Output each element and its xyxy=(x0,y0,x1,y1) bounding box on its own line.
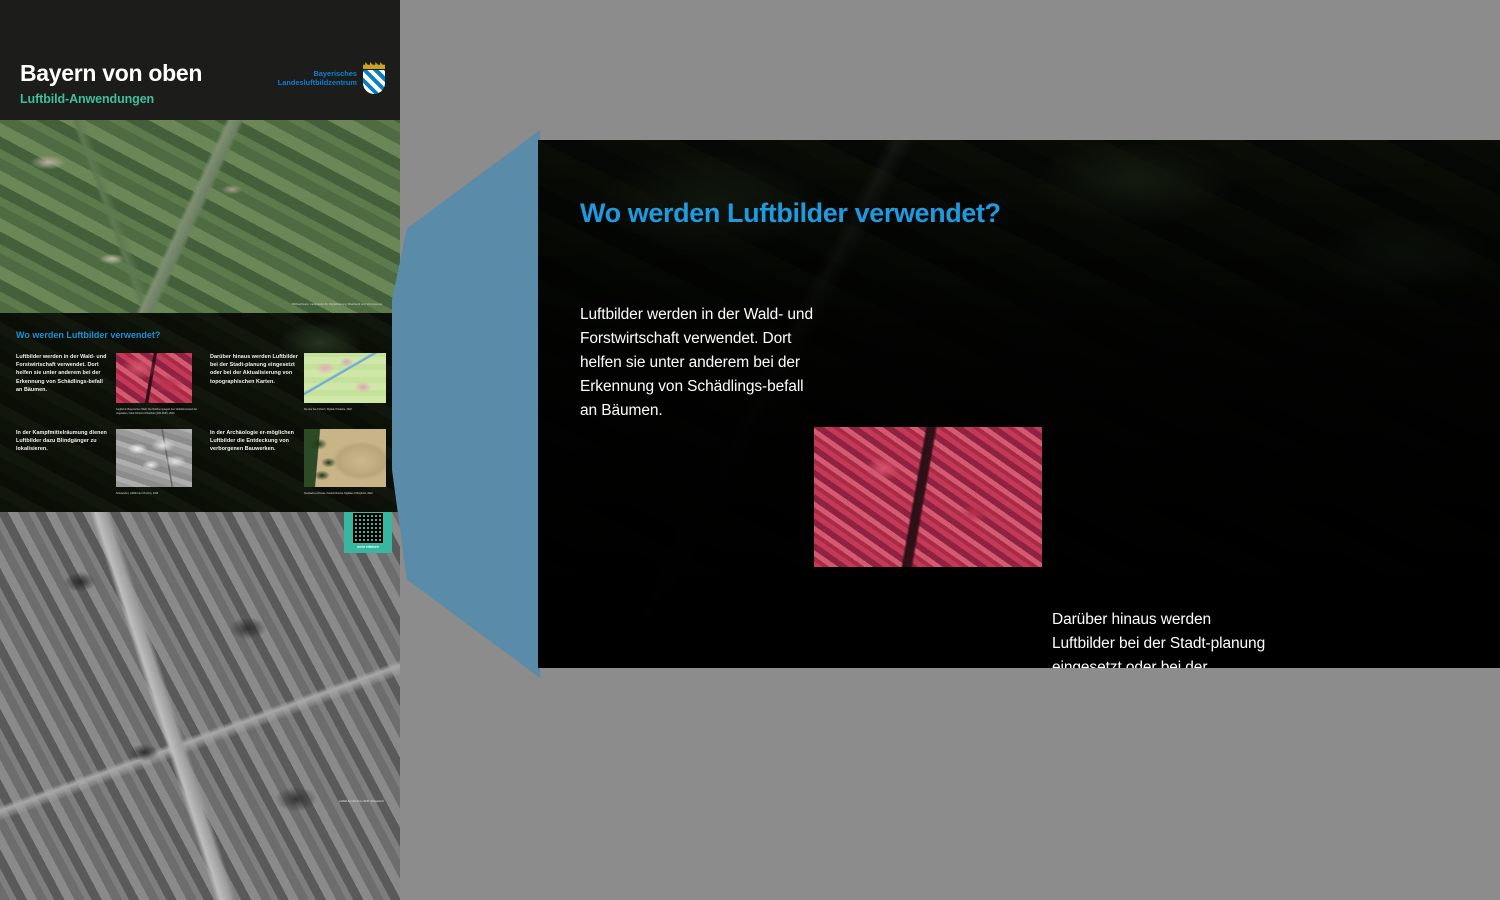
poster-block-text: Darüber hinaus werden Luftbilder bei der… xyxy=(210,353,298,386)
poster-block-stadtplanung: Darüber hinaus werden Luftbilder bei der… xyxy=(210,353,298,386)
poster-caption-text: Schweinfurt, Luftbild der US Army, 1945 xyxy=(116,492,200,496)
poster-header: Bayern von oben Luftbild-Anwendungen Bay… xyxy=(0,0,400,120)
poster-caption-text: Neustadt a.d.Donau, Kastell Abusina, Dig… xyxy=(304,492,392,496)
detail-panel-title: Wo werden Luftbilder verwendet? xyxy=(580,198,1500,229)
poster-block-forstwirtschaft: Luftbilder werden in der Wald- und Forst… xyxy=(16,353,108,394)
poster-image-ortskarte xyxy=(304,353,386,403)
poster-panel-title: Wo werden Luftbilder verwendet? xyxy=(16,330,160,340)
poster-content-panel: Wo werden Luftbilder verwendet? Luftbild… xyxy=(0,313,400,512)
qr-code-icon xyxy=(353,513,383,543)
poster-caption-kampfmittelraeumung: Schweinfurt, Luftbild der US Army, 1945 xyxy=(116,490,200,496)
page-subtitle: Luftbild-Anwendungen xyxy=(20,92,154,106)
poster-block-text: In der Kampfmittelräumung dienen Luftbil… xyxy=(16,429,110,454)
poster-image-abusina xyxy=(304,429,386,487)
poster-caption-archaeologie: Neustadt a.d.Donau, Kastell Abusina, Dig… xyxy=(304,490,392,496)
qr-code-label: mehr erfahren xyxy=(348,545,388,549)
poster: Bildnachweis: Landesamt für Digitalisier… xyxy=(0,0,400,900)
page-title: Bayern von oben xyxy=(20,60,202,87)
poster-block-kampfmittelraeumung: In der Kampfmittelräumung dienen Luftbil… xyxy=(16,429,110,454)
poster-block-archaeologie: In der Archäologie er-möglichen Luftbild… xyxy=(210,429,298,454)
shield-icon xyxy=(363,70,385,94)
poster-block-text: Luftbilder werden in der Wald- und Forst… xyxy=(16,353,108,394)
zoom-callout-connector xyxy=(392,130,540,678)
bavarian-coat-of-arms-icon xyxy=(362,62,386,94)
photo-credit-bottom: Luftbild der US Army 1945, Schweinfurt xyxy=(339,800,384,804)
poster-caption-forstwirtschaft: Guglöd im Bayerischen Wald. Die Rottöne … xyxy=(116,406,200,415)
poster-caption-stadtplanung: Die Isar bei Arzbach, Digitale Ortskarte… xyxy=(304,406,388,412)
poster-caption-text: Die Isar bei Arzbach, Digitale Ortskarte… xyxy=(304,408,388,412)
aerial-photo-top: Bildnachweis: Landesamt für Digitalisier… xyxy=(0,120,400,313)
poster-block-text: In der Archäologie er-möglichen Luftbild… xyxy=(210,429,298,454)
detail-text-forstwirtschaft: Luftbilder werden in der Wald- und Forst… xyxy=(580,303,820,423)
logo-line-2: Landesluftbildzentrum xyxy=(278,78,357,87)
poster-image-cir-orthophoto xyxy=(116,353,192,403)
aerial-photo-bottom: Luftbild der US Army 1945, Schweinfurt xyxy=(0,512,400,900)
detail-panel: Wo werden Luftbilder verwendet? Luftbild… xyxy=(538,140,1500,668)
logo: Bayerisches Landesluftbildzentrum xyxy=(278,62,386,94)
detail-image-cir-orthophoto xyxy=(814,427,1042,567)
qr-code-block[interactable]: mehr erfahren xyxy=(344,509,392,553)
logo-text: Bayerisches Landesluftbildzentrum xyxy=(278,69,357,88)
poster-image-schweinfurt xyxy=(116,429,192,487)
poster-caption-text: Guglöd im Bayerischen Wald. Die Rottöne … xyxy=(116,408,200,415)
detail-text-stadtplanung: Darüber hinaus werden Luftbilder bei der… xyxy=(1052,608,1268,668)
crown-icon xyxy=(363,62,385,69)
logo-line-1: Bayerisches xyxy=(278,69,357,78)
photo-credit-top: Bildnachweis: Landesamt für Digitalisier… xyxy=(292,303,382,306)
